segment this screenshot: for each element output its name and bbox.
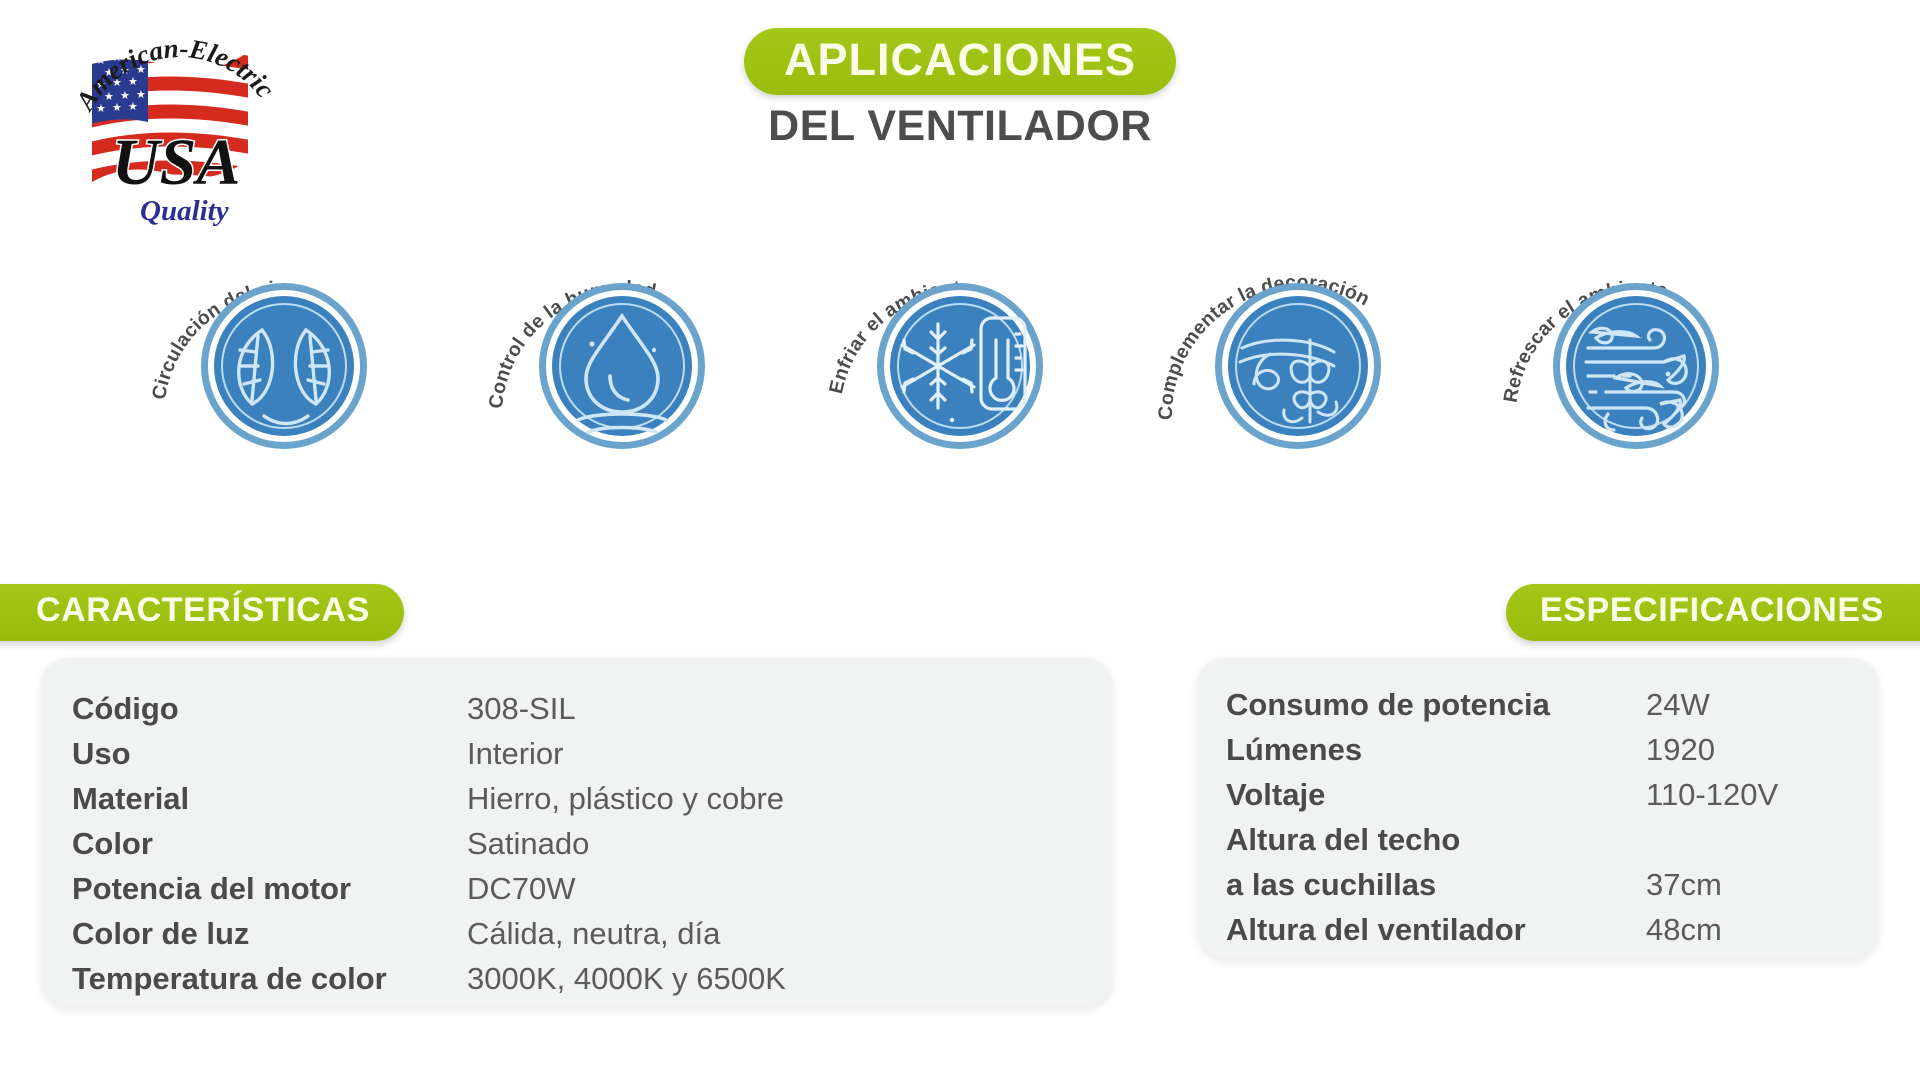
row-value: Interior (467, 731, 1082, 776)
especificaciones-table: Consumo de potencia24WLúmenes1920Voltaje… (1226, 682, 1856, 952)
table-row: MaterialHierro, plástico y cobre (72, 776, 1082, 821)
wind-leaves-icon (1553, 283, 1719, 449)
snowflake-thermometer-icon (877, 283, 1043, 449)
application-item-control-de-la-humedad[interactable]: Control de la humedad (482, 244, 762, 474)
table-row: UsoInterior (72, 731, 1082, 776)
page-header: APLICACIONES DEL VENTILADOR (0, 28, 1920, 151)
caracteristicas-panel: Código308-SILUsoInteriorMaterialHierro, … (42, 658, 1112, 1006)
leaves-airflow-icon (201, 283, 367, 449)
page-subtitle: DEL VENTILADOR (0, 102, 1920, 151)
row-value (1646, 817, 1856, 862)
table-row: ColorSatinado (72, 821, 1082, 866)
row-label: Código (72, 686, 467, 731)
row-value: Hierro, plástico y cobre (467, 776, 1082, 821)
table-row: Altura del ventilador48cm (1226, 907, 1856, 952)
row-value: 110-120V (1646, 772, 1856, 817)
decorative-swirl-icon (1215, 283, 1381, 449)
row-label: Temperatura de color (72, 956, 467, 1001)
row-label: Lúmenes (1226, 727, 1646, 772)
row-label: Color de luz (72, 911, 467, 956)
table-row: Voltaje110-120V (1226, 772, 1856, 817)
table-row: Potencia del motorDC70W (72, 866, 1082, 911)
row-value: Cálida, neutra, día (467, 911, 1082, 956)
row-label: Altura del techo (1226, 817, 1646, 862)
application-item-refrescar-el-ambiente[interactable]: Refrescar el ambiente (1496, 244, 1776, 474)
row-value: 37cm (1646, 862, 1856, 907)
row-value: 48cm (1646, 907, 1856, 952)
row-value: Satinado (467, 821, 1082, 866)
table-row: Temperatura de color3000K, 4000K y 6500K (72, 956, 1082, 1001)
application-item-enfriar-el-ambiente[interactable]: Enfriar el ambiente (820, 244, 1100, 474)
especificaciones-rows: Consumo de potencia24WLúmenes1920Voltaje… (1226, 682, 1856, 952)
table-row: Consumo de potencia24W (1226, 682, 1856, 727)
row-value: 3000K, 4000K y 6500K (467, 956, 1082, 1001)
application-item-circulacion-del-aire[interactable]: Circulación del aire (144, 244, 424, 474)
table-row: Color de luzCálida, neutra, día (72, 911, 1082, 956)
row-value: DC70W (467, 866, 1082, 911)
caracteristicas-rows: Código308-SILUsoInteriorMaterialHierro, … (72, 686, 1082, 1001)
table-row: Código308-SIL (72, 686, 1082, 731)
row-label: Uso (72, 731, 467, 776)
applications-row: Circulación del aire Control (0, 244, 1920, 474)
page-title: APLICACIONES (744, 28, 1176, 95)
caracteristicas-heading: CARACTERÍSTICAS (0, 584, 404, 641)
row-label: a las cuchillas (1226, 862, 1646, 907)
logo-quality-text: Quality (140, 195, 229, 227)
application-item-complementar-la-decoracion[interactable]: Complementar la decoración (1158, 244, 1438, 474)
table-row: a las cuchillas37cm (1226, 862, 1856, 907)
row-value: 308-SIL (467, 686, 1082, 731)
row-label: Potencia del motor (72, 866, 467, 911)
row-label: Altura del ventilador (1226, 907, 1646, 952)
table-row: Altura del techo (1226, 817, 1856, 862)
table-row: Lúmenes1920 (1226, 727, 1856, 772)
especificaciones-heading: ESPECIFICACIONES (1506, 584, 1920, 641)
caracteristicas-table: Código308-SILUsoInteriorMaterialHierro, … (72, 686, 1082, 1001)
row-label: Consumo de potencia (1226, 682, 1646, 727)
especificaciones-panel: Consumo de potencia24WLúmenes1920Voltaje… (1198, 658, 1878, 958)
water-drop-icon (539, 283, 705, 449)
row-label: Material (72, 776, 467, 821)
row-value: 24W (1646, 682, 1856, 727)
row-label: Color (72, 821, 467, 866)
row-label: Voltaje (1226, 772, 1646, 817)
row-value: 1920 (1646, 727, 1856, 772)
